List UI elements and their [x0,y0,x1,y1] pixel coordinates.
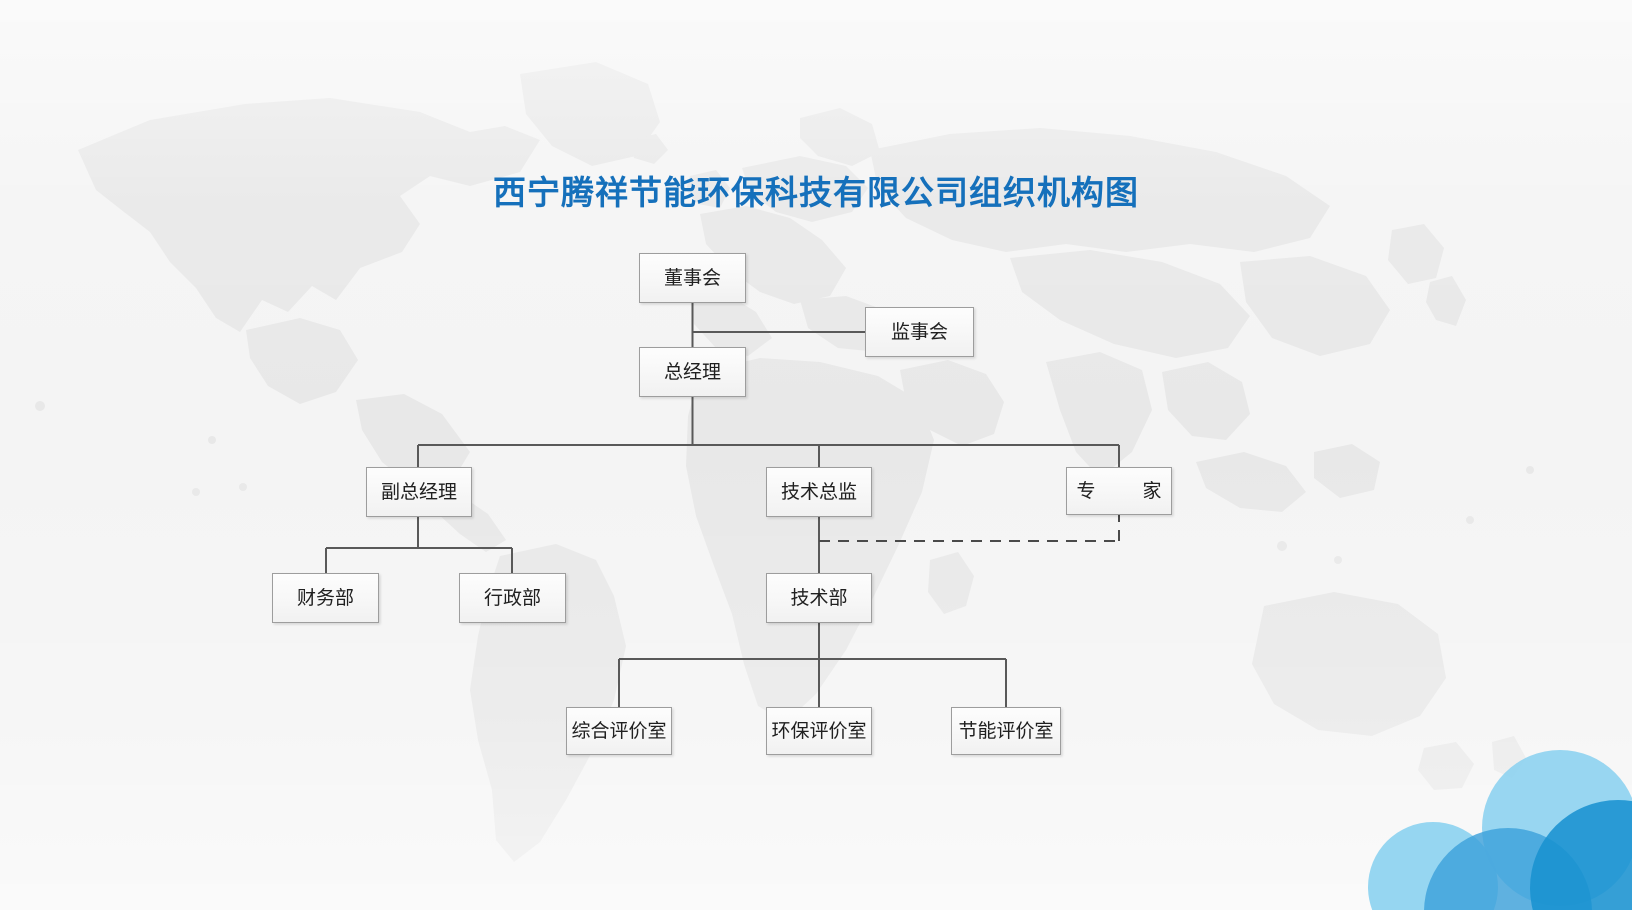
org-node-expert[interactable]: 专 家 [1066,467,1172,515]
slide-canvas: 西宁腾祥节能环保科技有限公司组织机构图 [0,0,1632,910]
org-node-deputy-gm[interactable]: 副总经理 [366,467,472,517]
connector-lines: 专家 --> [0,0,1632,910]
org-node-supervisor[interactable]: 监事会 [865,307,974,357]
org-node-office-energy[interactable]: 节能评价室 [951,707,1061,755]
org-node-tech-dept[interactable]: 技术部 [766,573,872,623]
org-node-office-environment[interactable]: 环保评价室 [766,707,872,755]
org-node-finance[interactable]: 财务部 [272,573,379,623]
org-node-office-comprehensive[interactable]: 综合评价室 [566,707,672,755]
org-node-gm[interactable]: 总经理 [639,347,746,397]
organization-chart: 专家 --> 董事会监事会总经理副总经理技术总监专 家财务部行政部技术部综合评价… [0,0,1632,910]
org-node-tech-dir[interactable]: 技术总监 [766,467,872,517]
org-node-board[interactable]: 董事会 [639,253,746,303]
org-node-admin[interactable]: 行政部 [459,573,566,623]
